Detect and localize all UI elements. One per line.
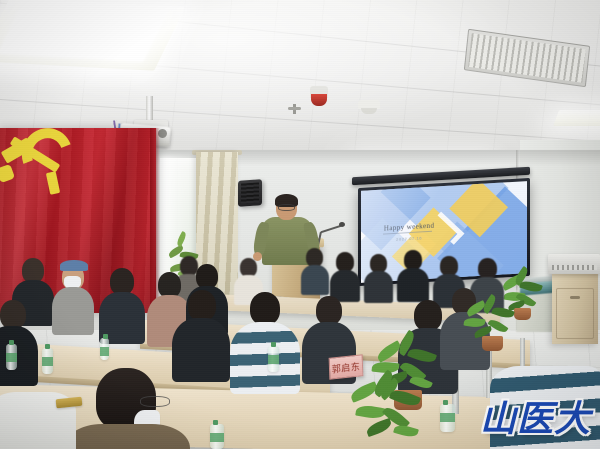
meeting-room-photo: Happy weekend 2022.07.16 [0, 0, 600, 449]
ceiling-light-glow [0, 2, 169, 62]
water-bottle[interactable] [42, 348, 53, 374]
cabinet-handle[interactable] [570, 296, 580, 299]
water-bottle[interactable] [100, 338, 109, 360]
watermark-logo: 山医大 [480, 396, 596, 444]
ceiling-light-panel [553, 110, 600, 126]
printer[interactable] [548, 254, 600, 274]
placard-text: 郭启东 [332, 359, 361, 375]
table-potted-plant [464, 300, 520, 352]
wall-speaker [238, 179, 262, 207]
storage-cabinet[interactable] [552, 272, 598, 344]
sprinkler-arm [288, 107, 301, 110]
water-bottle[interactable] [268, 346, 279, 372]
water-bottle[interactable] [6, 344, 17, 370]
foreground-plant [350, 376, 430, 448]
microphone-icon [339, 222, 345, 227]
fire-alarm-bell-icon [311, 94, 327, 106]
water-bottle[interactable] [210, 424, 224, 449]
